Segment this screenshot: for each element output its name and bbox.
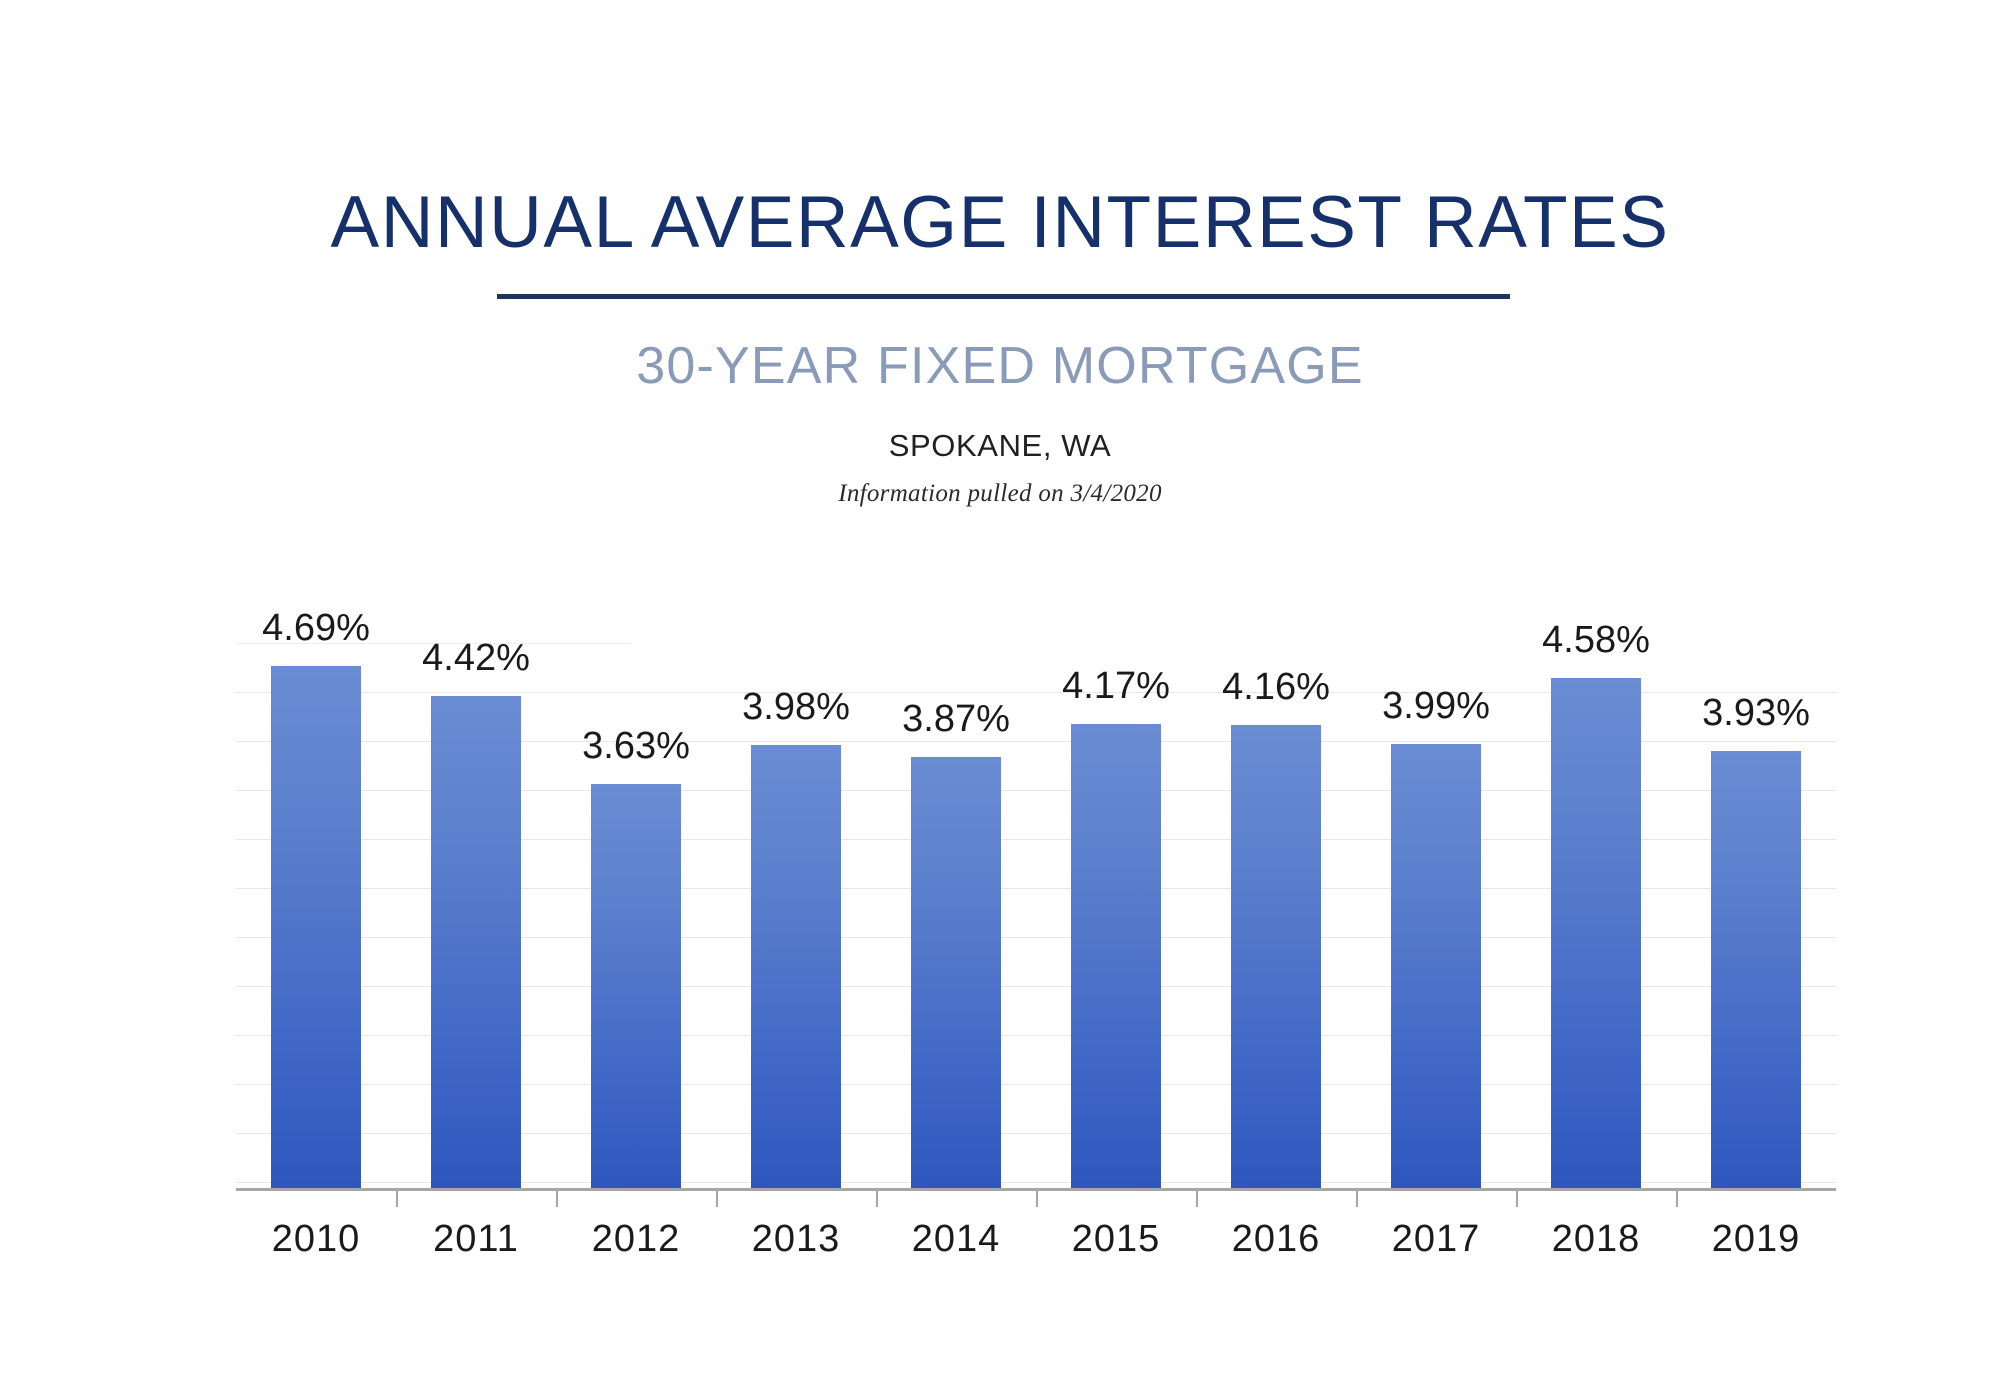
title-block: ANNUAL AVERAGE INTEREST RATES [0,186,2000,259]
x-axis-tick [396,1191,398,1207]
bar-value-label-2019: 3.93% [1666,694,1846,732]
x-axis-tick [556,1191,558,1207]
title-underline-divider [497,294,1510,299]
infographic-page: ANNUAL AVERAGE INTEREST RATES 30-YEAR FI… [0,0,2000,1385]
bar-2017[interactable] [1391,744,1481,1188]
chart-plot-area: 4.69%20104.42%20113.63%20123.98%20133.87… [236,600,1836,1188]
x-axis-label-2018: 2018 [1516,1220,1676,1258]
x-axis-label-2014: 2014 [876,1220,1036,1258]
bar-value-label-2018: 4.58% [1506,621,1686,659]
bar-value-label-2016: 4.16% [1186,668,1366,706]
bar-2015[interactable] [1071,724,1161,1188]
bar-2010[interactable] [271,666,361,1188]
page-subtitle: 30-YEAR FIXED MORTGAGE [0,340,2000,392]
bar-value-label-2011: 4.42% [386,639,566,677]
location-label: SPOKANE, WA [0,430,2000,461]
bar-2018[interactable] [1551,678,1641,1188]
bar-value-label-2013: 3.98% [706,688,886,726]
bar-value-label-2010: 4.69% [226,609,406,647]
bar-value-label-2014: 3.87% [866,700,1046,738]
bar-value-label-2017: 3.99% [1346,687,1526,725]
bar-value-label-2015: 4.17% [1026,667,1206,705]
bar-2019[interactable] [1711,751,1801,1188]
bar-chart: 4.69%20104.42%20113.63%20123.98%20133.87… [236,600,1836,1190]
x-axis-tick [716,1191,718,1207]
x-axis-tick [876,1191,878,1207]
x-axis-label-2016: 2016 [1196,1220,1356,1258]
x-axis-label-2011: 2011 [396,1220,556,1258]
bar-2014[interactable] [911,757,1001,1188]
x-axis-tick [1676,1191,1678,1207]
x-axis-label-2013: 2013 [716,1220,876,1258]
x-axis-label-2010: 2010 [236,1220,396,1258]
bar-2012[interactable] [591,784,681,1188]
x-axis-tick [1516,1191,1518,1207]
bar-2011[interactable] [431,696,521,1188]
data-source-note: Information pulled on 3/4/2020 [0,481,2000,506]
page-title: ANNUAL AVERAGE INTEREST RATES [0,186,2000,259]
bar-2016[interactable] [1231,725,1321,1188]
x-axis-label-2017: 2017 [1356,1220,1516,1258]
x-axis-tick [1196,1191,1198,1207]
x-axis-label-2012: 2012 [556,1220,716,1258]
bar-value-label-2012: 3.63% [546,727,726,765]
x-axis-tick [1036,1191,1038,1207]
x-axis-label-2015: 2015 [1036,1220,1196,1258]
x-axis-label-2019: 2019 [1676,1220,1836,1258]
bar-2013[interactable] [751,745,841,1188]
x-axis-tick [1356,1191,1358,1207]
